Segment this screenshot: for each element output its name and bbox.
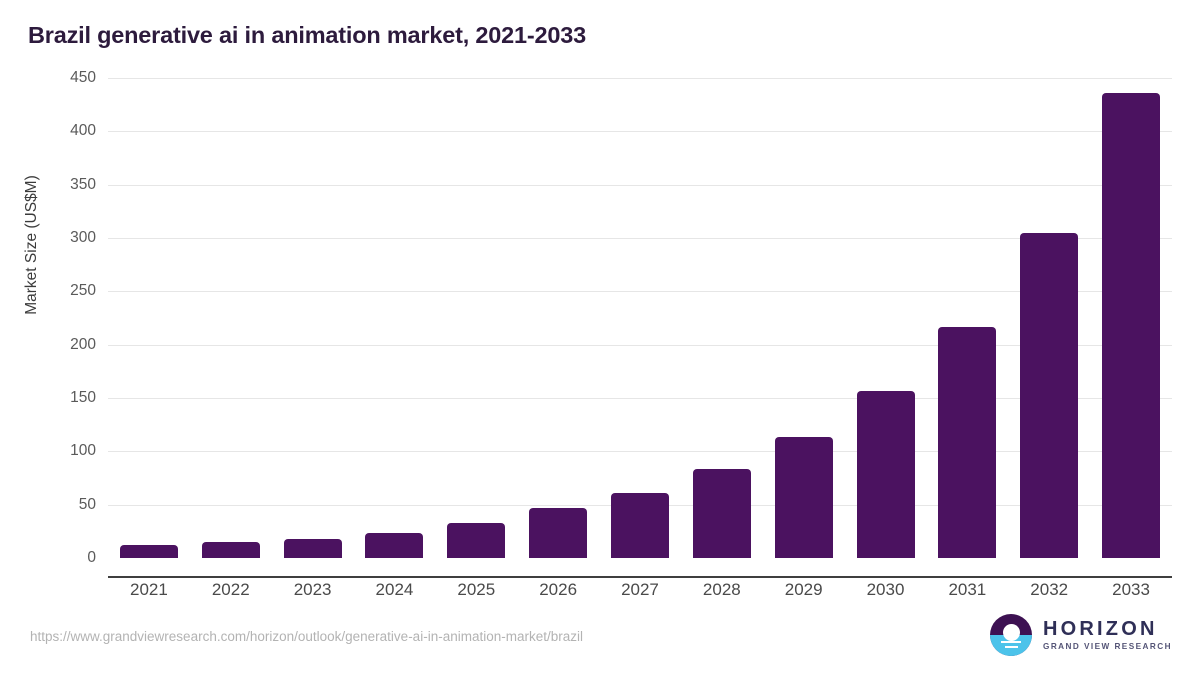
bar-2022[interactable] — [202, 542, 260, 558]
y-axis-ticks: 050100150200250300350400450 — [0, 78, 108, 578]
page-title: Brazil generative ai in animation market… — [28, 22, 586, 49]
bar-2029[interactable] — [775, 437, 833, 558]
bar-slot — [354, 78, 436, 558]
bar-slot — [190, 78, 272, 558]
bar-slot — [599, 78, 681, 558]
logo-tagline: GRAND VIEW RESEARCH — [1043, 643, 1172, 651]
bar-2025[interactable] — [447, 523, 505, 558]
y-tick-label: 450 — [70, 69, 96, 87]
bar-2023[interactable] — [284, 539, 342, 558]
y-tick-label: 100 — [70, 442, 96, 460]
x-tick-label: 2028 — [681, 580, 763, 600]
bar-slot — [1008, 78, 1090, 558]
y-tick-label: 250 — [70, 282, 96, 300]
x-tick-label: 2026 — [517, 580, 599, 600]
bar-slot — [435, 78, 517, 558]
y-tick-label: 0 — [87, 549, 96, 567]
bar-slot — [681, 78, 763, 558]
x-tick-label: 2024 — [354, 580, 436, 600]
bar-slot — [845, 78, 927, 558]
x-tick-label: 2031 — [926, 580, 1008, 600]
bar-slot — [108, 78, 190, 558]
bar-2030[interactable] — [857, 391, 915, 558]
bar-2021[interactable] — [120, 545, 178, 558]
bar-slot — [926, 78, 1008, 558]
y-tick-label: 400 — [70, 122, 96, 140]
plot-area: Market Size (US$M) 050100150200250300350… — [0, 78, 1200, 578]
x-tick-label: 2023 — [272, 580, 354, 600]
bar-slot — [517, 78, 599, 558]
x-tick-label: 2025 — [435, 580, 517, 600]
horizon-logo[interactable]: HORIZON GRAND VIEW RESEARCH — [990, 614, 1172, 656]
logo-name: HORIZON — [1043, 619, 1172, 639]
x-tick-label: 2027 — [599, 580, 681, 600]
bar-2026[interactable] — [529, 508, 587, 558]
x-tick-label: 2029 — [763, 580, 845, 600]
bar-2028[interactable] — [693, 469, 751, 558]
x-tick-label: 2022 — [190, 580, 272, 600]
bar-series — [108, 78, 1172, 558]
x-axis-line — [108, 576, 1172, 578]
bar-2031[interactable] — [938, 327, 996, 558]
y-tick-label: 350 — [70, 176, 96, 194]
x-tick-label: 2032 — [1008, 580, 1090, 600]
bar-slot — [763, 78, 845, 558]
chart-page: Brazil generative ai in animation market… — [0, 0, 1200, 675]
bar-slot — [1090, 78, 1172, 558]
bar-slot — [272, 78, 354, 558]
y-tick-label: 300 — [70, 229, 96, 247]
bar-2027[interactable] — [611, 493, 669, 558]
bar-2032[interactable] — [1020, 233, 1078, 558]
y-tick-label: 50 — [79, 496, 96, 514]
x-tick-label: 2030 — [845, 580, 927, 600]
y-tick-label: 200 — [70, 336, 96, 354]
y-tick-label: 150 — [70, 389, 96, 407]
x-axis-labels: 2021202220232024202520262027202820292030… — [108, 580, 1172, 600]
source-url[interactable]: https://www.grandviewresearch.com/horizo… — [30, 629, 583, 644]
horizon-sun-circle-icon — [990, 614, 1032, 656]
x-tick-label: 2033 — [1090, 580, 1172, 600]
logo-text: HORIZON GRAND VIEW RESEARCH — [1043, 619, 1172, 651]
x-tick-label: 2021 — [108, 580, 190, 600]
bar-2024[interactable] — [365, 533, 423, 558]
bar-2033[interactable] — [1102, 93, 1160, 558]
